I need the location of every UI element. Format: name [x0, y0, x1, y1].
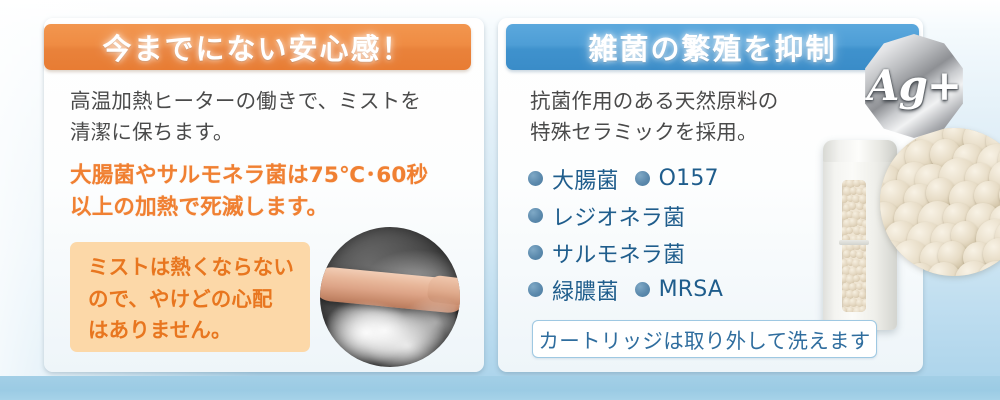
cartridge-rib	[839, 240, 869, 245]
bacteria-name-label: O157	[659, 166, 719, 191]
bullet-dot-icon	[528, 245, 543, 260]
cartridge-window	[842, 180, 866, 312]
bacteria-name-label: 大腸菌	[552, 163, 619, 195]
bacteria-list-row: サルモネラ菌	[528, 234, 828, 271]
bacteria-list-row: 緑膿菌MRSA	[528, 271, 828, 308]
bacteria-name-label: MRSA	[659, 277, 724, 302]
ceramic-bead	[859, 291, 866, 298]
ceramic-bead	[859, 211, 866, 219]
bacteria-name-label: 緑膿菌	[552, 274, 619, 306]
bottom-color-band	[0, 376, 1000, 400]
ceramic-bead	[863, 251, 866, 259]
left-panel-emphasis-text: 大腸菌やサルモネラ菌は75℃･60秒 以上の加熱で死滅します。	[70, 160, 475, 224]
ceramic-bead	[860, 274, 866, 282]
bullet-dot-icon	[528, 208, 543, 223]
mist-plume	[328, 285, 456, 367]
bullet-dot-icon	[528, 171, 543, 186]
bacteria-list: 大腸菌O157レジオネラ菌サルモネラ菌緑膿菌MRSA	[528, 160, 828, 308]
left-panel-paragraph: 高温加熱ヒーターの働きで、ミストを 清潔に保ちます。	[70, 86, 470, 148]
bacteria-list-row: レジオネラ菌	[528, 197, 828, 234]
bacteria-list-item: 大腸菌	[528, 163, 619, 195]
bacteria-list-item: レジオネラ菌	[528, 200, 685, 232]
ceramic-bead	[862, 282, 866, 290]
bacteria-list-item: サルモネラ菌	[528, 237, 685, 269]
washable-cartridge-label: カートリッジは取り外して洗えます	[538, 324, 870, 354]
bacteria-name-label: レジオネラ菌	[552, 200, 685, 232]
burn-safety-callout-text: ミストは熱くならない ので、やけどの心配 はありません。	[88, 252, 303, 347]
ceramic-beads-photo	[880, 128, 1000, 276]
ceramic-bead	[859, 227, 866, 235]
right-panel-header: 雑菌の繁殖を抑制	[506, 24, 919, 70]
advertisement-canvas: 今までにない安心感！ 高温加熱ヒーターの働きで、ミストを 清潔に保ちます。 大腸…	[0, 0, 1000, 400]
bacteria-list-item: O157	[635, 166, 719, 191]
bacteria-list-item: 緑膿菌	[528, 274, 619, 306]
bullet-dot-icon	[635, 171, 650, 186]
bullet-dot-icon	[635, 282, 650, 297]
arm-in-mist-photo	[320, 227, 460, 367]
bacteria-name-label: サルモネラ菌	[552, 237, 685, 269]
ceramic-bead	[859, 180, 866, 185]
washable-cartridge-pill: カートリッジは取り外して洗えます	[532, 320, 877, 358]
right-panel-paragraph: 抗菌作用のある天然原料の 特殊セラミックを採用。	[530, 86, 860, 148]
bacteria-list-item: MRSA	[635, 277, 724, 302]
ag-plus-badge-label: Ag+	[867, 61, 961, 110]
bacteria-list-row: 大腸菌O157	[528, 160, 828, 197]
ceramic-bead	[859, 306, 866, 312]
left-panel-header: 今までにない安心感！	[44, 24, 471, 70]
ceramic-bead	[849, 202, 856, 209]
bullet-dot-icon	[528, 282, 543, 297]
